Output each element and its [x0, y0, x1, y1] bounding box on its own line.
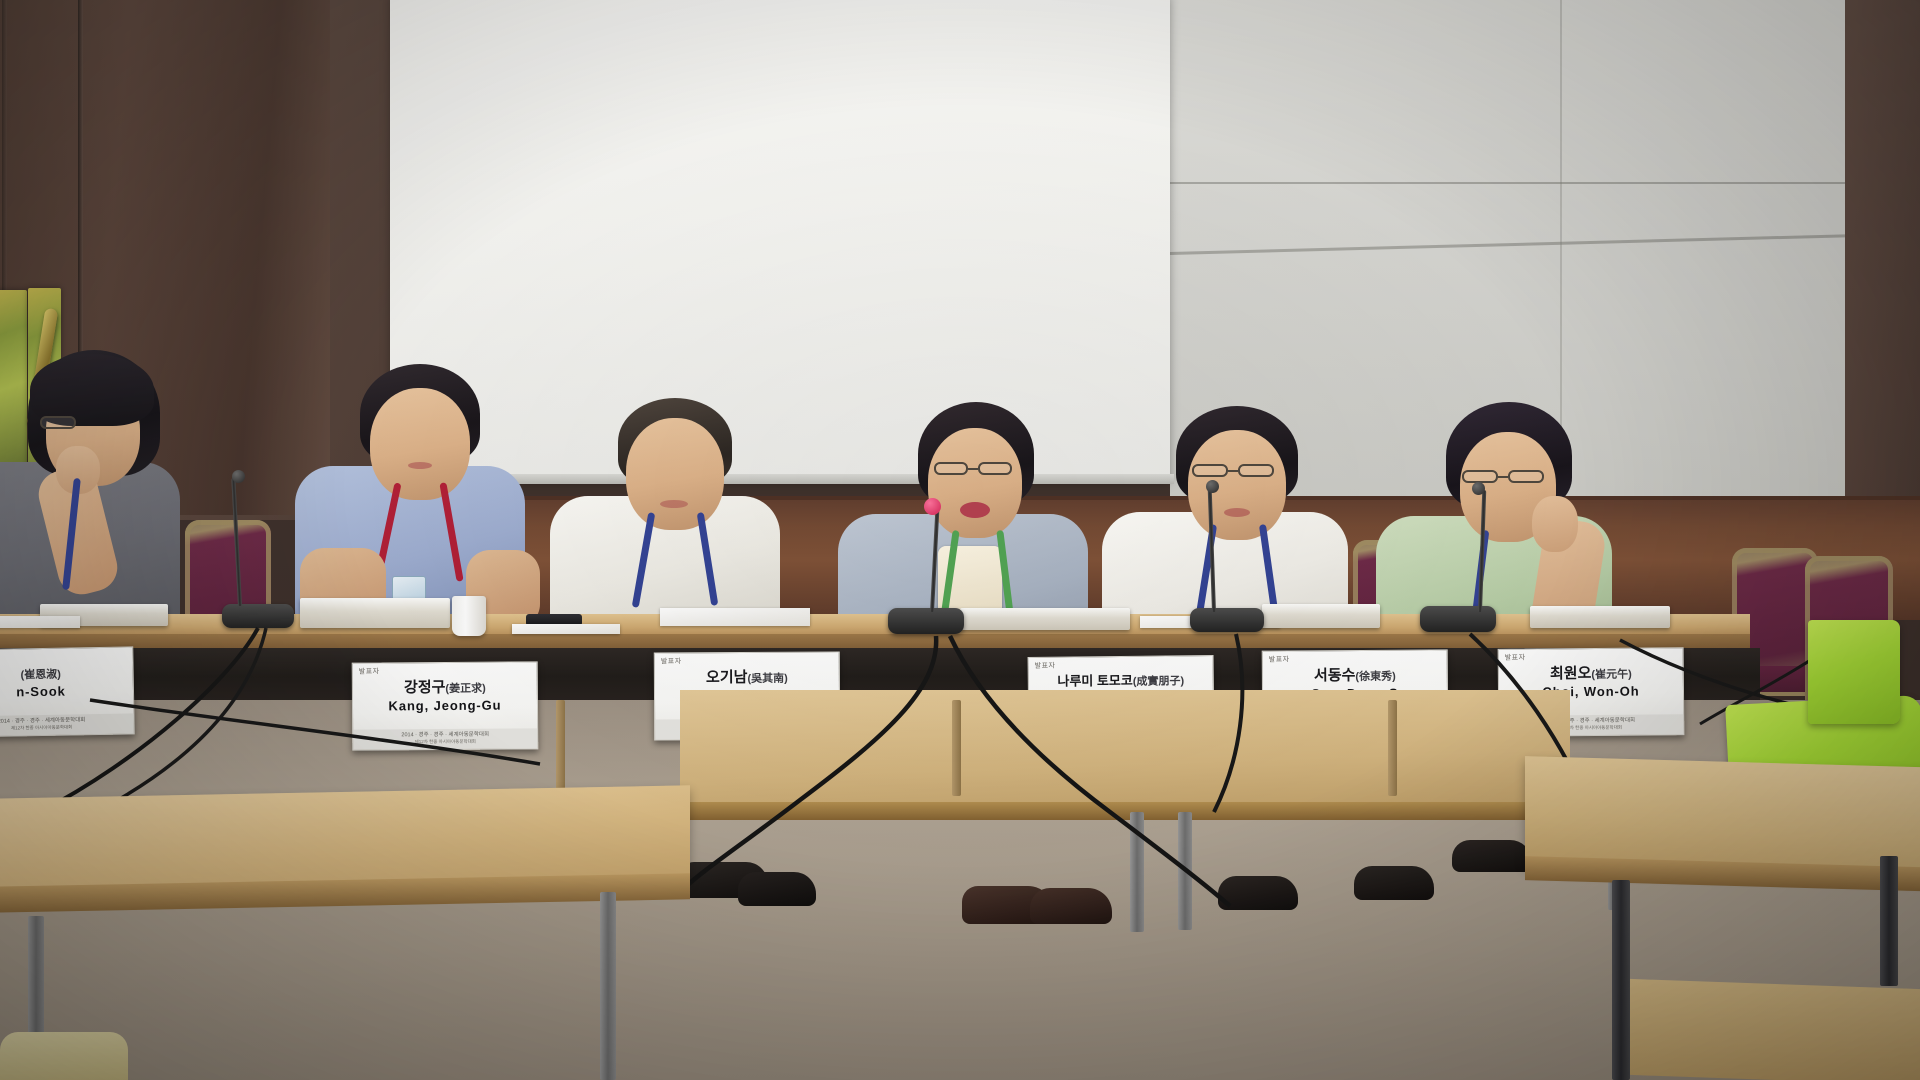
open-book[interactable] — [1262, 604, 1380, 628]
front-table-right-lower-shelf — [1630, 979, 1920, 1080]
shoe — [1452, 840, 1532, 872]
name-placard: 발표자 강정구(姜正求) Kang, Jeong-Gu 2014 · 경주 · … — [352, 661, 539, 750]
panelist-1-glasses — [40, 416, 76, 429]
shoe — [738, 872, 816, 906]
placard-hanja: (徐東秀) — [1355, 671, 1395, 683]
placard-footer-line2: 제12차 한중 아시아아동문학대회 — [353, 739, 537, 746]
panelist-5-glasses-bridge — [1228, 470, 1238, 472]
open-book[interactable] — [300, 598, 450, 628]
placard-hanja: (崔元午) — [1591, 669, 1631, 681]
panelist-4-glasses-bridge — [968, 468, 978, 470]
microphone-base[interactable] — [1420, 606, 1496, 632]
microphone-head-windscreen — [924, 498, 941, 515]
table-leg — [952, 700, 961, 796]
table-leg — [1880, 856, 1898, 986]
panelist-2-mouth — [408, 462, 432, 469]
panelist-3-head — [626, 418, 724, 530]
front-table-middle-edge — [680, 802, 1570, 820]
panelist-5-mouth — [1224, 508, 1250, 517]
placard-footer-line2: 제12차 한중 아시아아동문학대회 — [0, 724, 134, 733]
placard-romanized-name: Kang, Jeong-Gu — [359, 698, 531, 712]
panelist-4-mouth-speaking — [960, 502, 990, 518]
shoe — [1354, 866, 1434, 900]
panelist-6-hand-on-cheek — [1532, 496, 1578, 552]
front-table-middle — [680, 690, 1570, 810]
paper-cup[interactable] — [452, 596, 486, 636]
placard-role-label: 발표자 — [359, 667, 531, 675]
table-leg — [600, 892, 616, 1080]
placard-romanized-name: n-Sook — [0, 683, 127, 699]
panelist-2-head — [370, 388, 470, 500]
panelist-6-glasses-right — [1508, 470, 1544, 483]
wall-panel-seam-horizontal — [1170, 182, 1850, 184]
table-leg — [1612, 880, 1630, 1080]
placard-hanja: (成實朋子) — [1133, 675, 1184, 688]
table-leg — [556, 700, 565, 790]
tote-bag-print — [1773, 742, 1778, 752]
placard-native-name: 오기남(吳其南) — [661, 670, 833, 687]
table-leg — [1178, 812, 1192, 930]
table-leg — [1130, 812, 1144, 932]
shoe — [1030, 888, 1112, 924]
panelist-4-glasses-right — [978, 462, 1012, 475]
placard-native-name: 나루미 토모코(成實朋子) — [1035, 673, 1207, 689]
panelist-6-glasses — [1462, 470, 1498, 483]
right-wall-dark — [1845, 0, 1920, 560]
placard-hanja: (吳其南) — [747, 673, 787, 685]
placard-role-label: 발표자 — [661, 658, 833, 666]
panelist-4-head — [928, 428, 1022, 538]
paper-sheet[interactable] — [512, 624, 620, 634]
conference-tote-bag[interactable] — [1808, 620, 1900, 724]
placard-native-text: 서동수 — [1314, 667, 1356, 684]
placard-role-label: 발표자 — [1035, 661, 1207, 670]
panelist-5-glasses — [1192, 464, 1228, 477]
open-book[interactable] — [960, 608, 1130, 630]
table-leg — [1388, 700, 1397, 796]
microphone-head — [1206, 480, 1219, 493]
microphone-base[interactable] — [888, 608, 964, 634]
panelist-6-glasses-bridge — [1498, 476, 1508, 478]
placard-native-text: 나루미 토모코 — [1057, 673, 1133, 689]
placard-role-label: 발표자 — [0, 653, 126, 663]
placard-native-name: (崔恩淑) — [0, 665, 127, 684]
panelist-4-glasses — [934, 462, 968, 475]
placard-native-text: 최원오 — [1550, 665, 1592, 682]
placard-native-name: 서동수(徐東秀) — [1269, 667, 1441, 684]
microphone-base[interactable] — [222, 604, 294, 628]
placard-footer: 2014 · 경주 · 경주 · 세계아동문학대회 제12차 한중 아시아아동문… — [353, 728, 537, 749]
projection-screen — [390, 0, 1170, 480]
conference-photo: 발표자 (崔恩淑) n-Sook 2014 · 경주 · 경주 · 세계아동문학… — [0, 0, 1920, 1080]
microphone-base[interactable] — [1190, 608, 1264, 632]
shoe — [1218, 876, 1298, 910]
placard-role-label: 발표자 — [1505, 653, 1677, 662]
microphone-head — [1472, 482, 1485, 495]
paper-sheet[interactable] — [660, 608, 810, 626]
door-handle-plate-left — [0, 290, 27, 465]
panelist-5-head — [1188, 430, 1286, 540]
placard-hanja: (姜正求) — [445, 683, 485, 695]
microphone-head — [232, 470, 245, 483]
placard-footer: 2014 · 경주 · 경주 · 세계아동문학대회 제12차 한중 아시아아동문… — [0, 713, 134, 736]
placard-native-text: 강정구 — [404, 679, 446, 696]
placard-native-name: 강정구(姜正求) — [359, 679, 531, 696]
placard-native-text: 오기남 — [706, 669, 747, 686]
panelist-3-mouth — [660, 500, 688, 508]
chair-backrest-foreground[interactable] — [0, 1032, 128, 1080]
paper-sheet[interactable] — [0, 616, 80, 628]
open-book[interactable] — [1530, 606, 1670, 628]
placard-role-label: 발표자 — [1269, 655, 1441, 663]
name-placard: 발표자 (崔恩淑) n-Sook 2014 · 경주 · 경주 · 세계아동문학… — [0, 646, 135, 737]
panelist-5-glasses-right — [1238, 464, 1274, 477]
placard-hanja: (崔恩淑) — [20, 669, 61, 682]
placard-native-name: 최원오(崔元午) — [1505, 665, 1677, 682]
